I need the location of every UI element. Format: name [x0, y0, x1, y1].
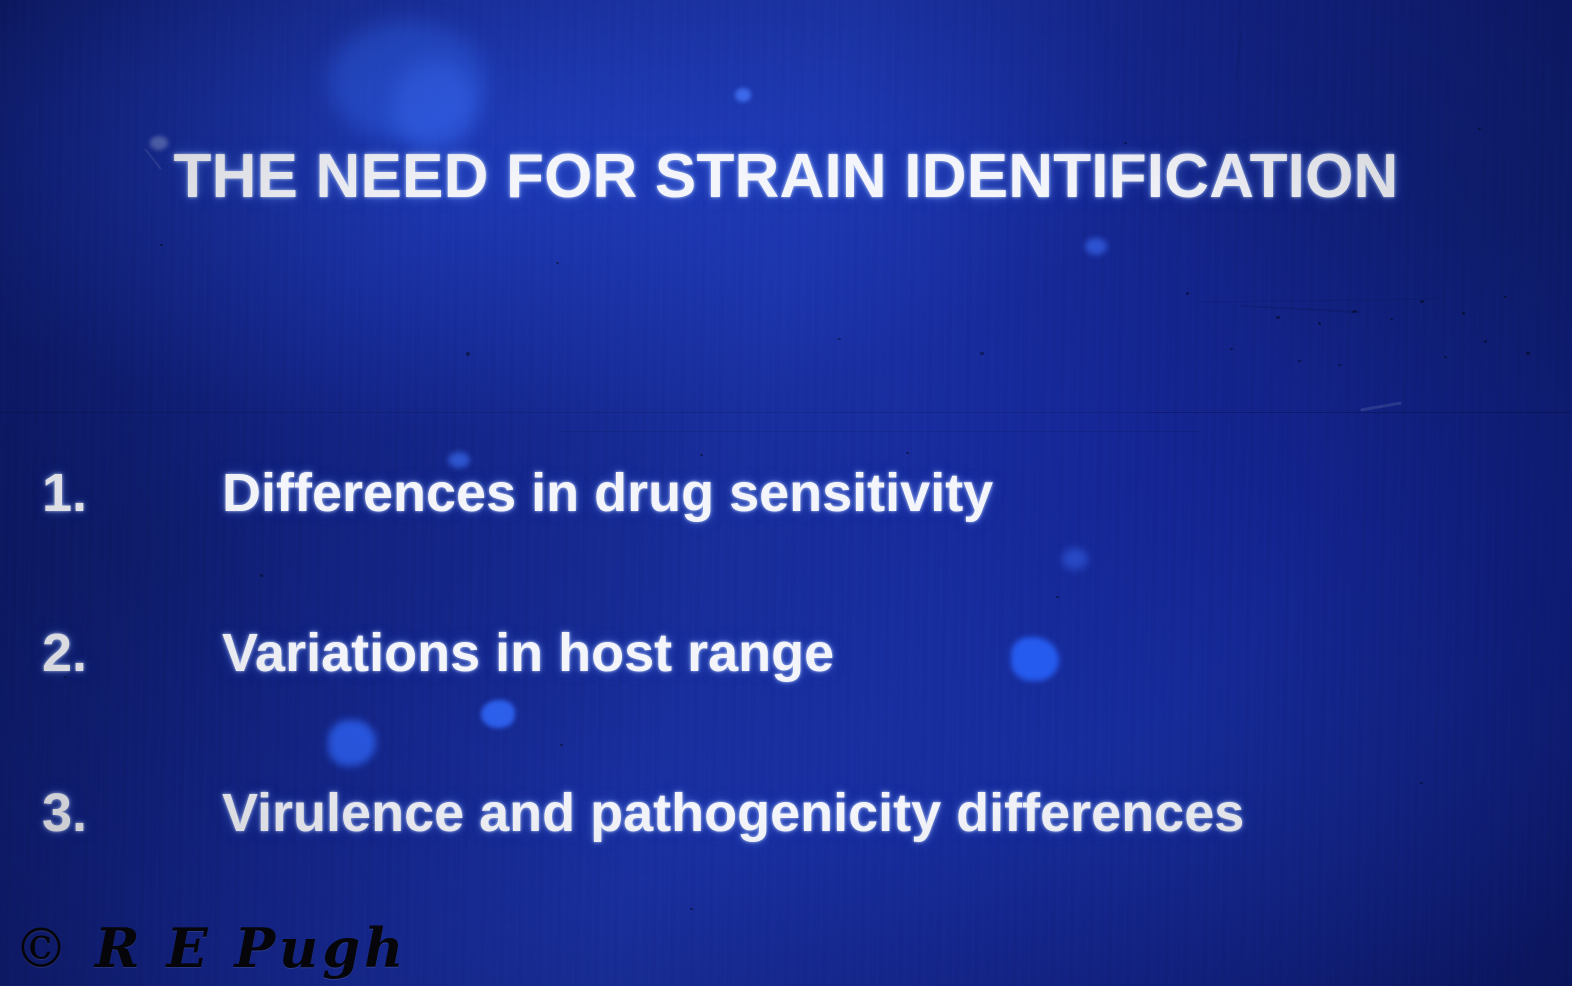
scan-vignette [0, 0, 1572, 986]
lecture-slide: THE NEED FOR STRAIN IDENTIFICATION 1. Di… [0, 0, 1572, 986]
